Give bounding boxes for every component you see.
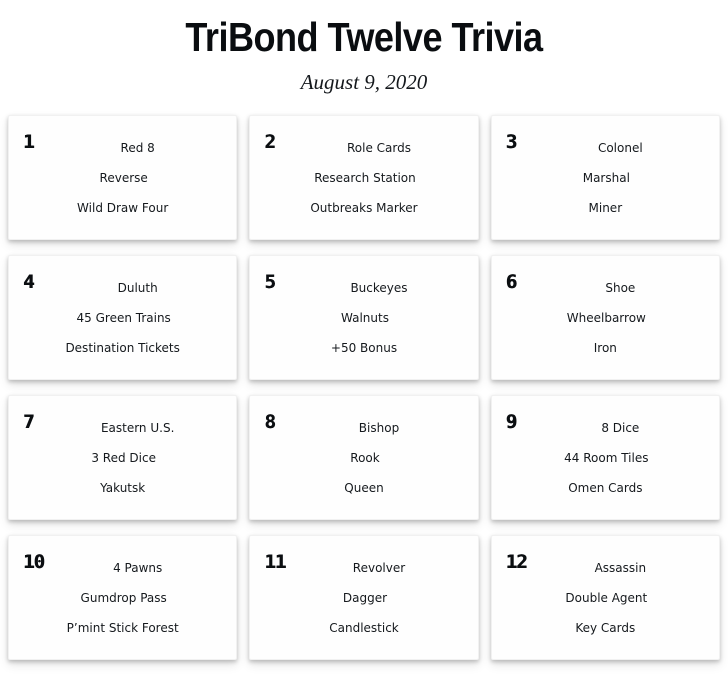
trivia-card[interactable]: 6 Shoe Wheelbarrow Iron xyxy=(491,255,720,380)
card-clues: Assassin Double Agent Key Cards xyxy=(496,553,715,643)
clue-line: +50 Bonus xyxy=(254,333,473,363)
clue-line: Duluth xyxy=(13,273,232,303)
clue-line: Dagger xyxy=(254,583,473,613)
trivia-card[interactable]: 7 Eastern U.S. 3 Red Dice Yakutsk xyxy=(8,395,237,520)
clue-line: Destination Tickets xyxy=(13,333,232,363)
clue-line: Reverse xyxy=(13,163,232,193)
trivia-card[interactable]: 4 Duluth 45 Green Trains Destination Tic… xyxy=(8,255,237,380)
card-clues: Role Cards Research Station Outbreaks Ma… xyxy=(254,133,473,223)
clue-line: Walnuts xyxy=(254,303,473,333)
clue-line: P’mint Stick Forest xyxy=(13,613,232,643)
card-clues: Eastern U.S. 3 Red Dice Yakutsk xyxy=(13,413,232,503)
card-clues: 4 Pawns Gumdrop Pass P’mint Stick Forest xyxy=(13,553,232,643)
clue-line: Shoe xyxy=(496,273,715,303)
clue-line: Eastern U.S. xyxy=(13,413,232,443)
clue-line: Queen xyxy=(254,473,473,503)
clue-line: Omen Cards xyxy=(496,473,715,503)
card-clues: Colonel Marshal Miner xyxy=(496,133,715,223)
trivia-card[interactable]: 10 4 Pawns Gumdrop Pass P’mint Stick For… xyxy=(8,535,237,660)
clue-line: Marshal xyxy=(496,163,715,193)
trivia-card[interactable]: 3 Colonel Marshal Miner xyxy=(491,115,720,240)
clue-line: 3 Red Dice xyxy=(13,443,232,473)
card-clues: Red 8 Reverse Wild Draw Four xyxy=(13,133,232,223)
card-clues: Duluth 45 Green Trains Destination Ticke… xyxy=(13,273,232,363)
clue-line: Yakutsk xyxy=(13,473,232,503)
page-header: TriBond Twelve Trivia August 9, 2020 xyxy=(0,0,728,95)
clue-line: Outbreaks Marker xyxy=(254,193,473,223)
trivia-card[interactable]: 11 Revolver Dagger Candlestick xyxy=(249,535,478,660)
clue-line: Revolver xyxy=(254,553,473,583)
page-date: August 9, 2020 xyxy=(0,69,728,95)
card-clues: 8 Dice 44 Room Tiles Omen Cards xyxy=(496,413,715,503)
clue-line: Red 8 xyxy=(13,133,232,163)
trivia-page: TriBond Twelve Trivia August 9, 2020 1 R… xyxy=(0,0,728,684)
clue-line: Role Cards xyxy=(254,133,473,163)
trivia-card[interactable]: 12 Assassin Double Agent Key Cards xyxy=(491,535,720,660)
card-clues: Buckeyes Walnuts +50 Bonus xyxy=(254,273,473,363)
clue-line: Rook xyxy=(254,443,473,473)
clue-line: Key Cards xyxy=(496,613,715,643)
trivia-card[interactable]: 1 Red 8 Reverse Wild Draw Four xyxy=(8,115,237,240)
clue-line: Bishop xyxy=(254,413,473,443)
trivia-card[interactable]: 8 Bishop Rook Queen xyxy=(249,395,478,520)
trivia-card[interactable]: 2 Role Cards Research Station Outbreaks … xyxy=(249,115,478,240)
clue-line: Candlestick xyxy=(254,613,473,643)
clue-line: Iron xyxy=(496,333,715,363)
clue-line: Research Station xyxy=(254,163,473,193)
clue-line: Wheelbarrow xyxy=(496,303,715,333)
card-clues: Revolver Dagger Candlestick xyxy=(254,553,473,643)
clue-line: Buckeyes xyxy=(254,273,473,303)
clue-line: Gumdrop Pass xyxy=(13,583,232,613)
clue-line: Colonel xyxy=(496,133,715,163)
trivia-card-grid: 1 Red 8 Reverse Wild Draw Four 2 Role Ca… xyxy=(8,115,720,660)
clue-line: Assassin xyxy=(496,553,715,583)
clue-line: Miner xyxy=(496,193,715,223)
trivia-card[interactable]: 5 Buckeyes Walnuts +50 Bonus xyxy=(249,255,478,380)
page-title: TriBond Twelve Trivia xyxy=(44,14,685,60)
clue-line: 8 Dice xyxy=(496,413,715,443)
card-clues: Shoe Wheelbarrow Iron xyxy=(496,273,715,363)
trivia-card[interactable]: 9 8 Dice 44 Room Tiles Omen Cards xyxy=(491,395,720,520)
clue-line: 44 Room Tiles xyxy=(496,443,715,473)
clue-line: Double Agent xyxy=(496,583,715,613)
clue-line: 45 Green Trains xyxy=(13,303,232,333)
clue-line: Wild Draw Four xyxy=(13,193,232,223)
clue-line: 4 Pawns xyxy=(13,553,232,583)
card-clues: Bishop Rook Queen xyxy=(254,413,473,503)
